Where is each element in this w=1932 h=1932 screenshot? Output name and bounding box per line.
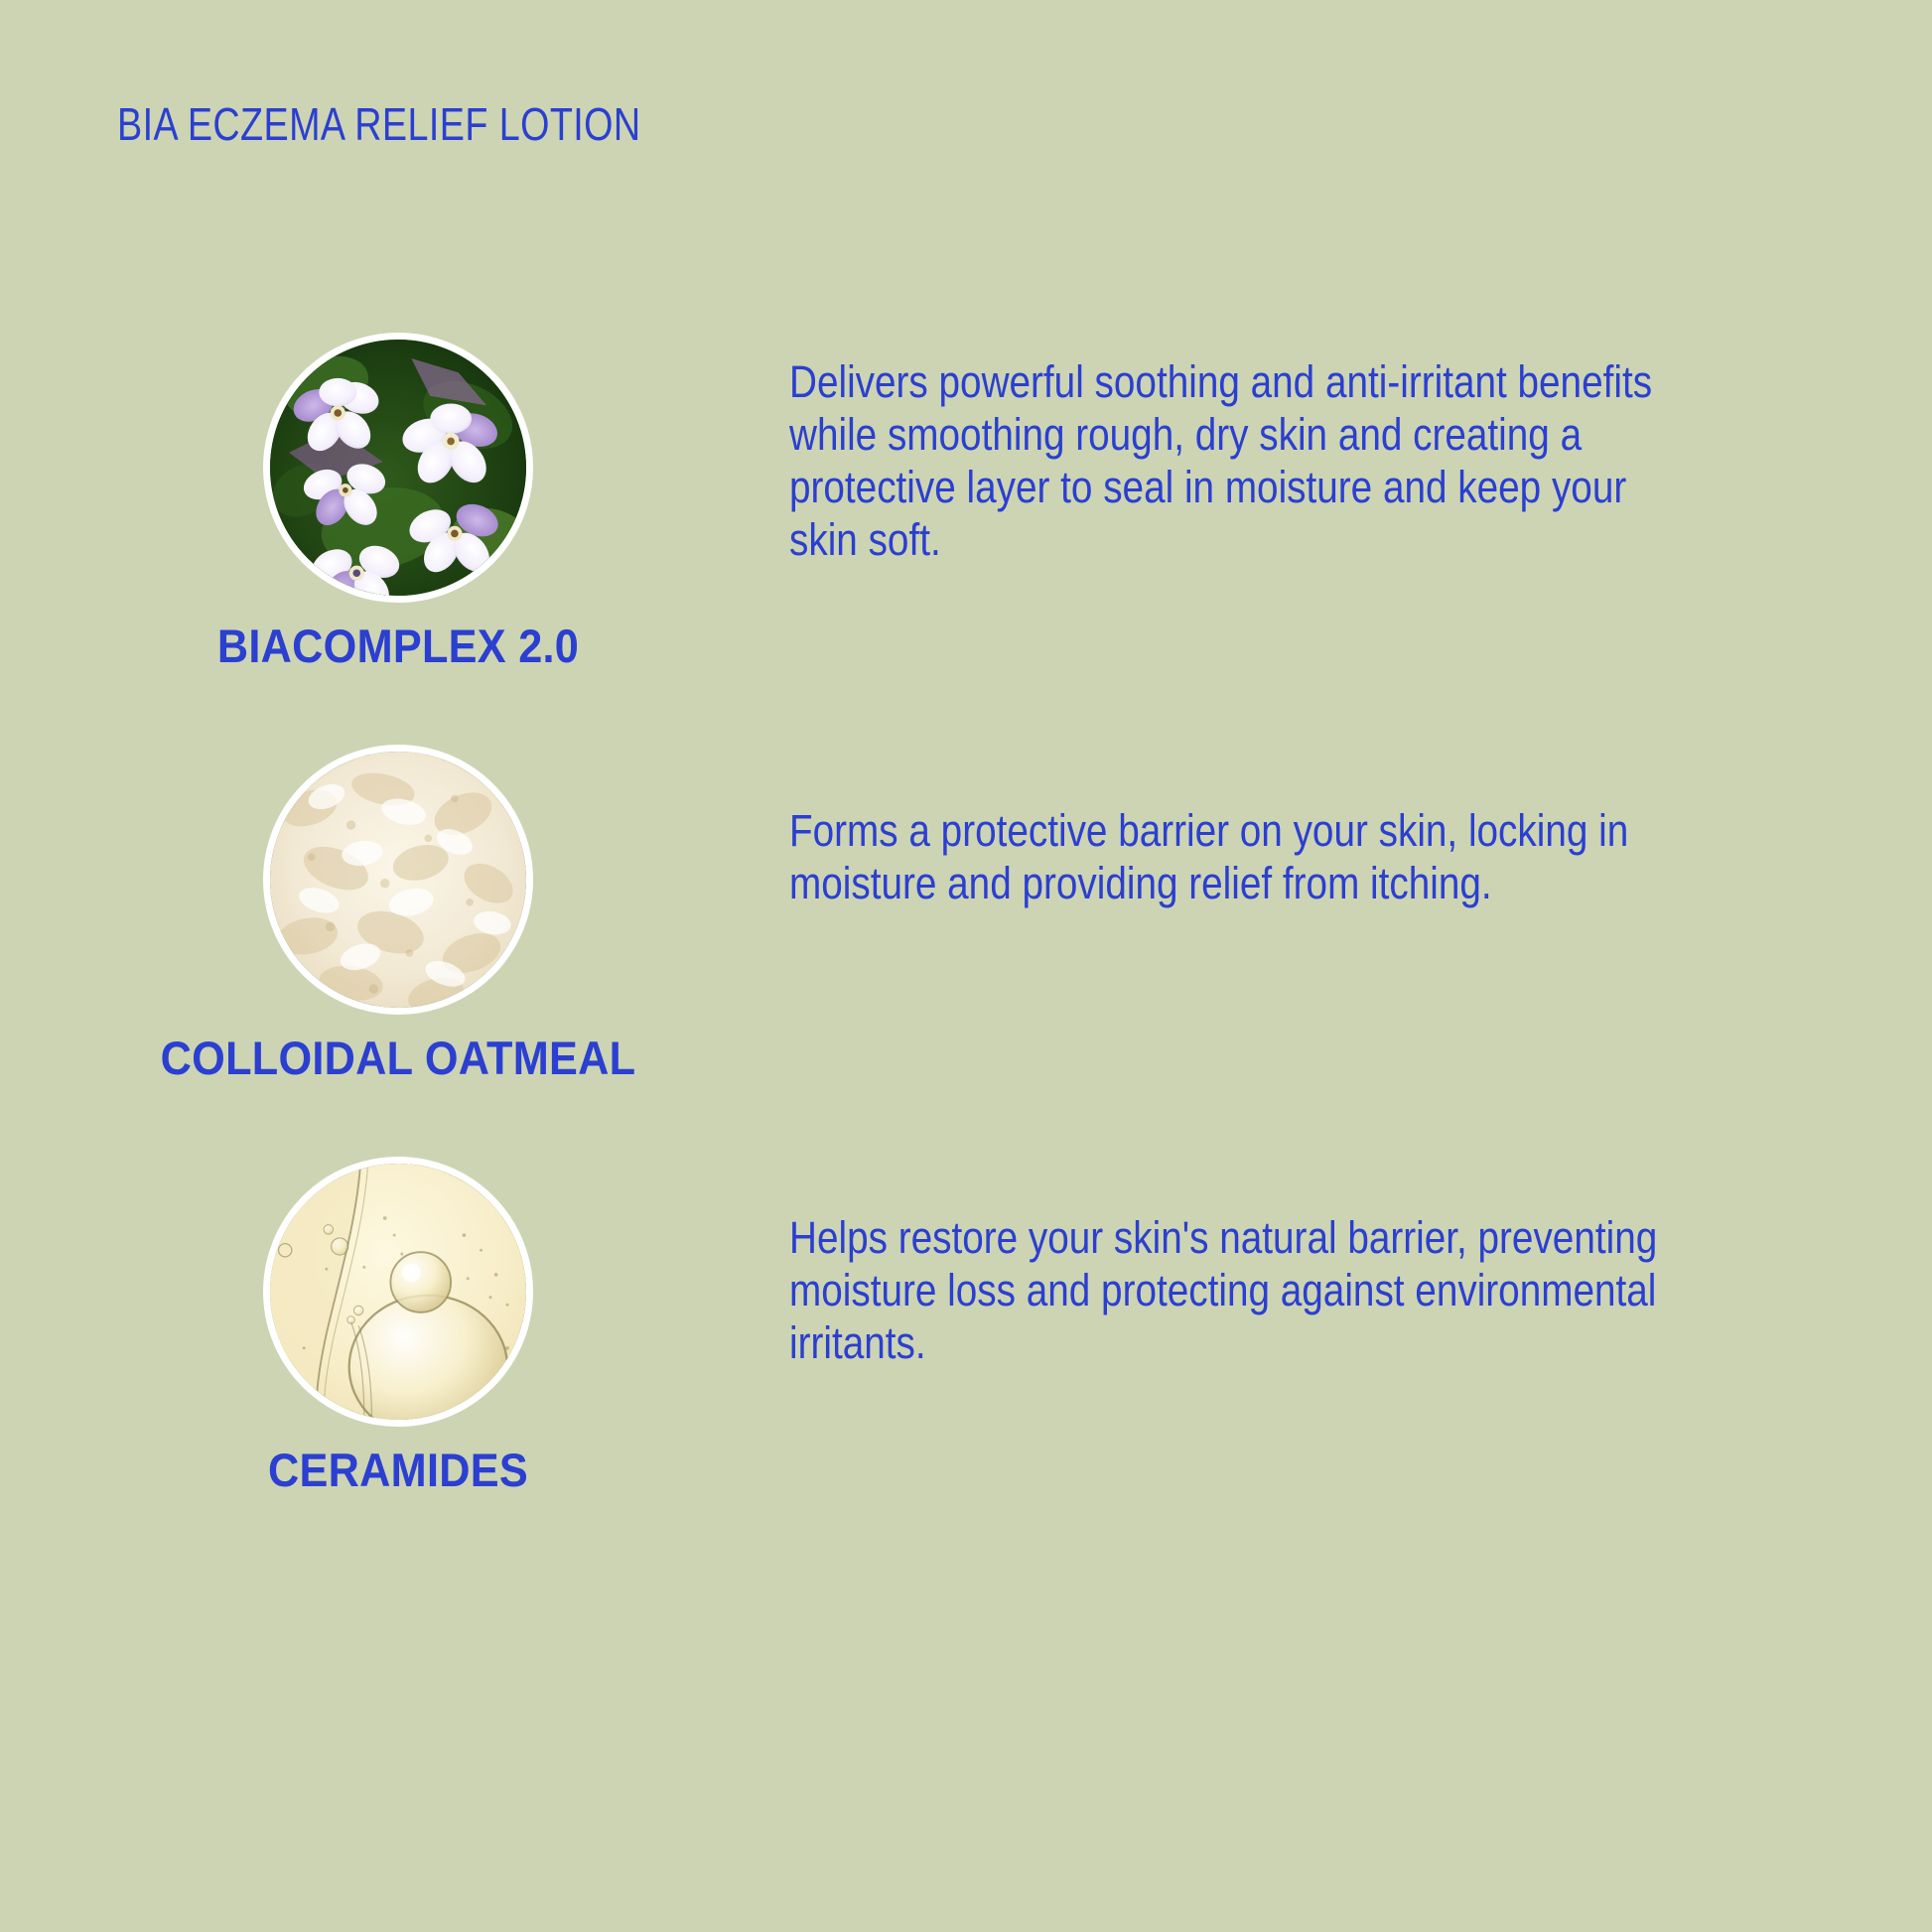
ingredient-label-ceramides: CERAMIDES (268, 1443, 528, 1497)
ingredient-label-biacomplex: BIACOMPLEX 2.0 (217, 619, 579, 673)
serum-bubbles-photo (263, 1157, 533, 1427)
ingredient-media-column: CERAMIDES (263, 1157, 533, 1427)
ingredient-description-colloidal-oatmeal: Forms a protective barrier on your skin,… (789, 804, 1669, 909)
oatmeal-powder-photo (263, 745, 533, 1015)
ingredient-description-biacomplex: Delivers powerful soothing and anti-irri… (789, 355, 1669, 566)
page-title: BIA ECZEMA RELIEF LOTION (117, 97, 641, 151)
ingredient-description-ceramides: Helps restore your skin's natural barrie… (789, 1211, 1669, 1369)
infographic-page: BIA ECZEMA RELIEF LOTION (0, 0, 1932, 1932)
flower-photo (263, 333, 533, 603)
ingredient-media-column: BIACOMPLEX 2.0 (263, 333, 533, 603)
ingredient-media-column: COLLOIDAL OATMEAL (263, 745, 533, 1015)
ingredient-label-colloidal-oatmeal: COLLOIDAL OATMEAL (161, 1031, 636, 1085)
